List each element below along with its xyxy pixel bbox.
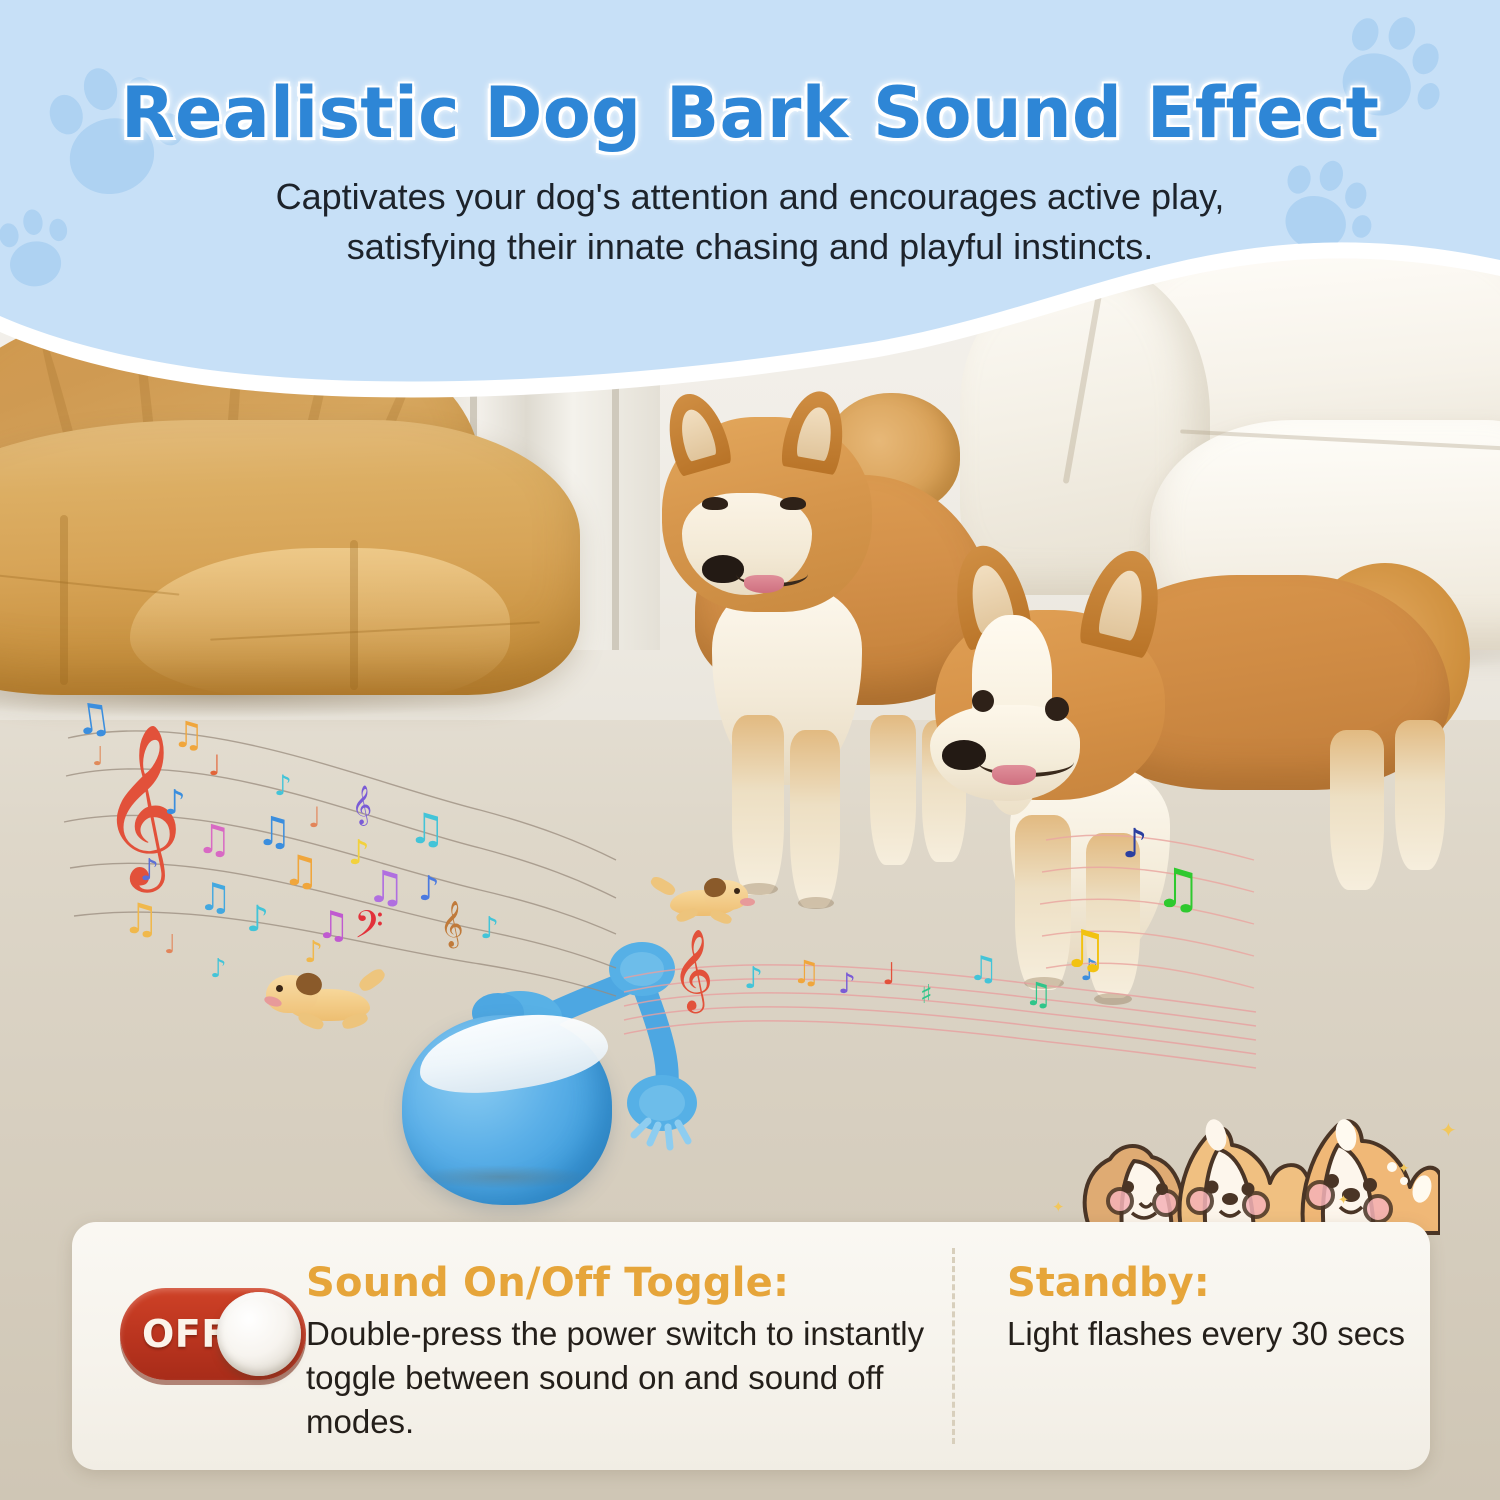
corgi-leg: [1395, 720, 1445, 870]
shiba-eye: [780, 497, 806, 510]
sound-toggle-feature: OFF Sound On/Off Toggle: Double-press th…: [72, 1222, 952, 1445]
shiba-ear: [658, 387, 733, 477]
bean-bag-sofa: [0, 300, 600, 700]
shiba-eye: [702, 497, 728, 510]
corgi-eye: [972, 690, 994, 712]
shiba-tongue: [744, 575, 784, 593]
sparkle-icon: ✦: [1338, 1192, 1349, 1208]
toggle-knob[interactable]: [217, 1292, 301, 1376]
corgi-leg: [1015, 815, 1071, 990]
sparkle-icon: ✦: [1052, 1198, 1065, 1216]
feature-body-standby: Light flashes every 30 secs: [1007, 1312, 1405, 1356]
feature-heading-sound-toggle: Sound On/Off Toggle:: [306, 1260, 952, 1306]
running-dachshund-icon: [648, 872, 758, 936]
feature-info-panel: OFF Sound On/Off Toggle: Double-press th…: [72, 1222, 1430, 1470]
feature-body-sound-toggle: Double-press the power switch to instant…: [306, 1312, 952, 1445]
bean-bag-seat: [0, 420, 580, 695]
feature-heading-standby: Standby:: [1007, 1260, 1405, 1306]
standby-feature: Standby: Light flashes every 30 secs: [973, 1222, 1405, 1356]
shiba-leg: [790, 730, 840, 908]
shiba-leg: [732, 715, 784, 895]
window-mullion: [612, 250, 619, 650]
sparkle-icon: ✦: [1398, 1160, 1410, 1177]
corgi-tongue: [992, 765, 1036, 785]
product-infographic: ♫ ♩ 𝄞 ♫ ♩ ♪ ♪ ♫ ♫ ♩ 𝄞 ♫ ♪ ♪ ♫ ♫ ♫ ♪ ♫ ♪ …: [0, 0, 1500, 1500]
rolling-ball-dog-toy: [390, 935, 730, 1215]
sparkle-icon: ✦: [1440, 1118, 1457, 1143]
corgi-eye: [1045, 697, 1069, 721]
corgi-dog: [900, 515, 1460, 1035]
running-dachshund-icon: [262, 965, 392, 1045]
sound-power-toggle[interactable]: OFF: [120, 1288, 306, 1380]
panel-divider: [952, 1248, 955, 1444]
corgi-leg: [1330, 730, 1384, 890]
toggle-state-label: OFF: [142, 1312, 228, 1356]
corgi-leg: [1086, 833, 1140, 998]
